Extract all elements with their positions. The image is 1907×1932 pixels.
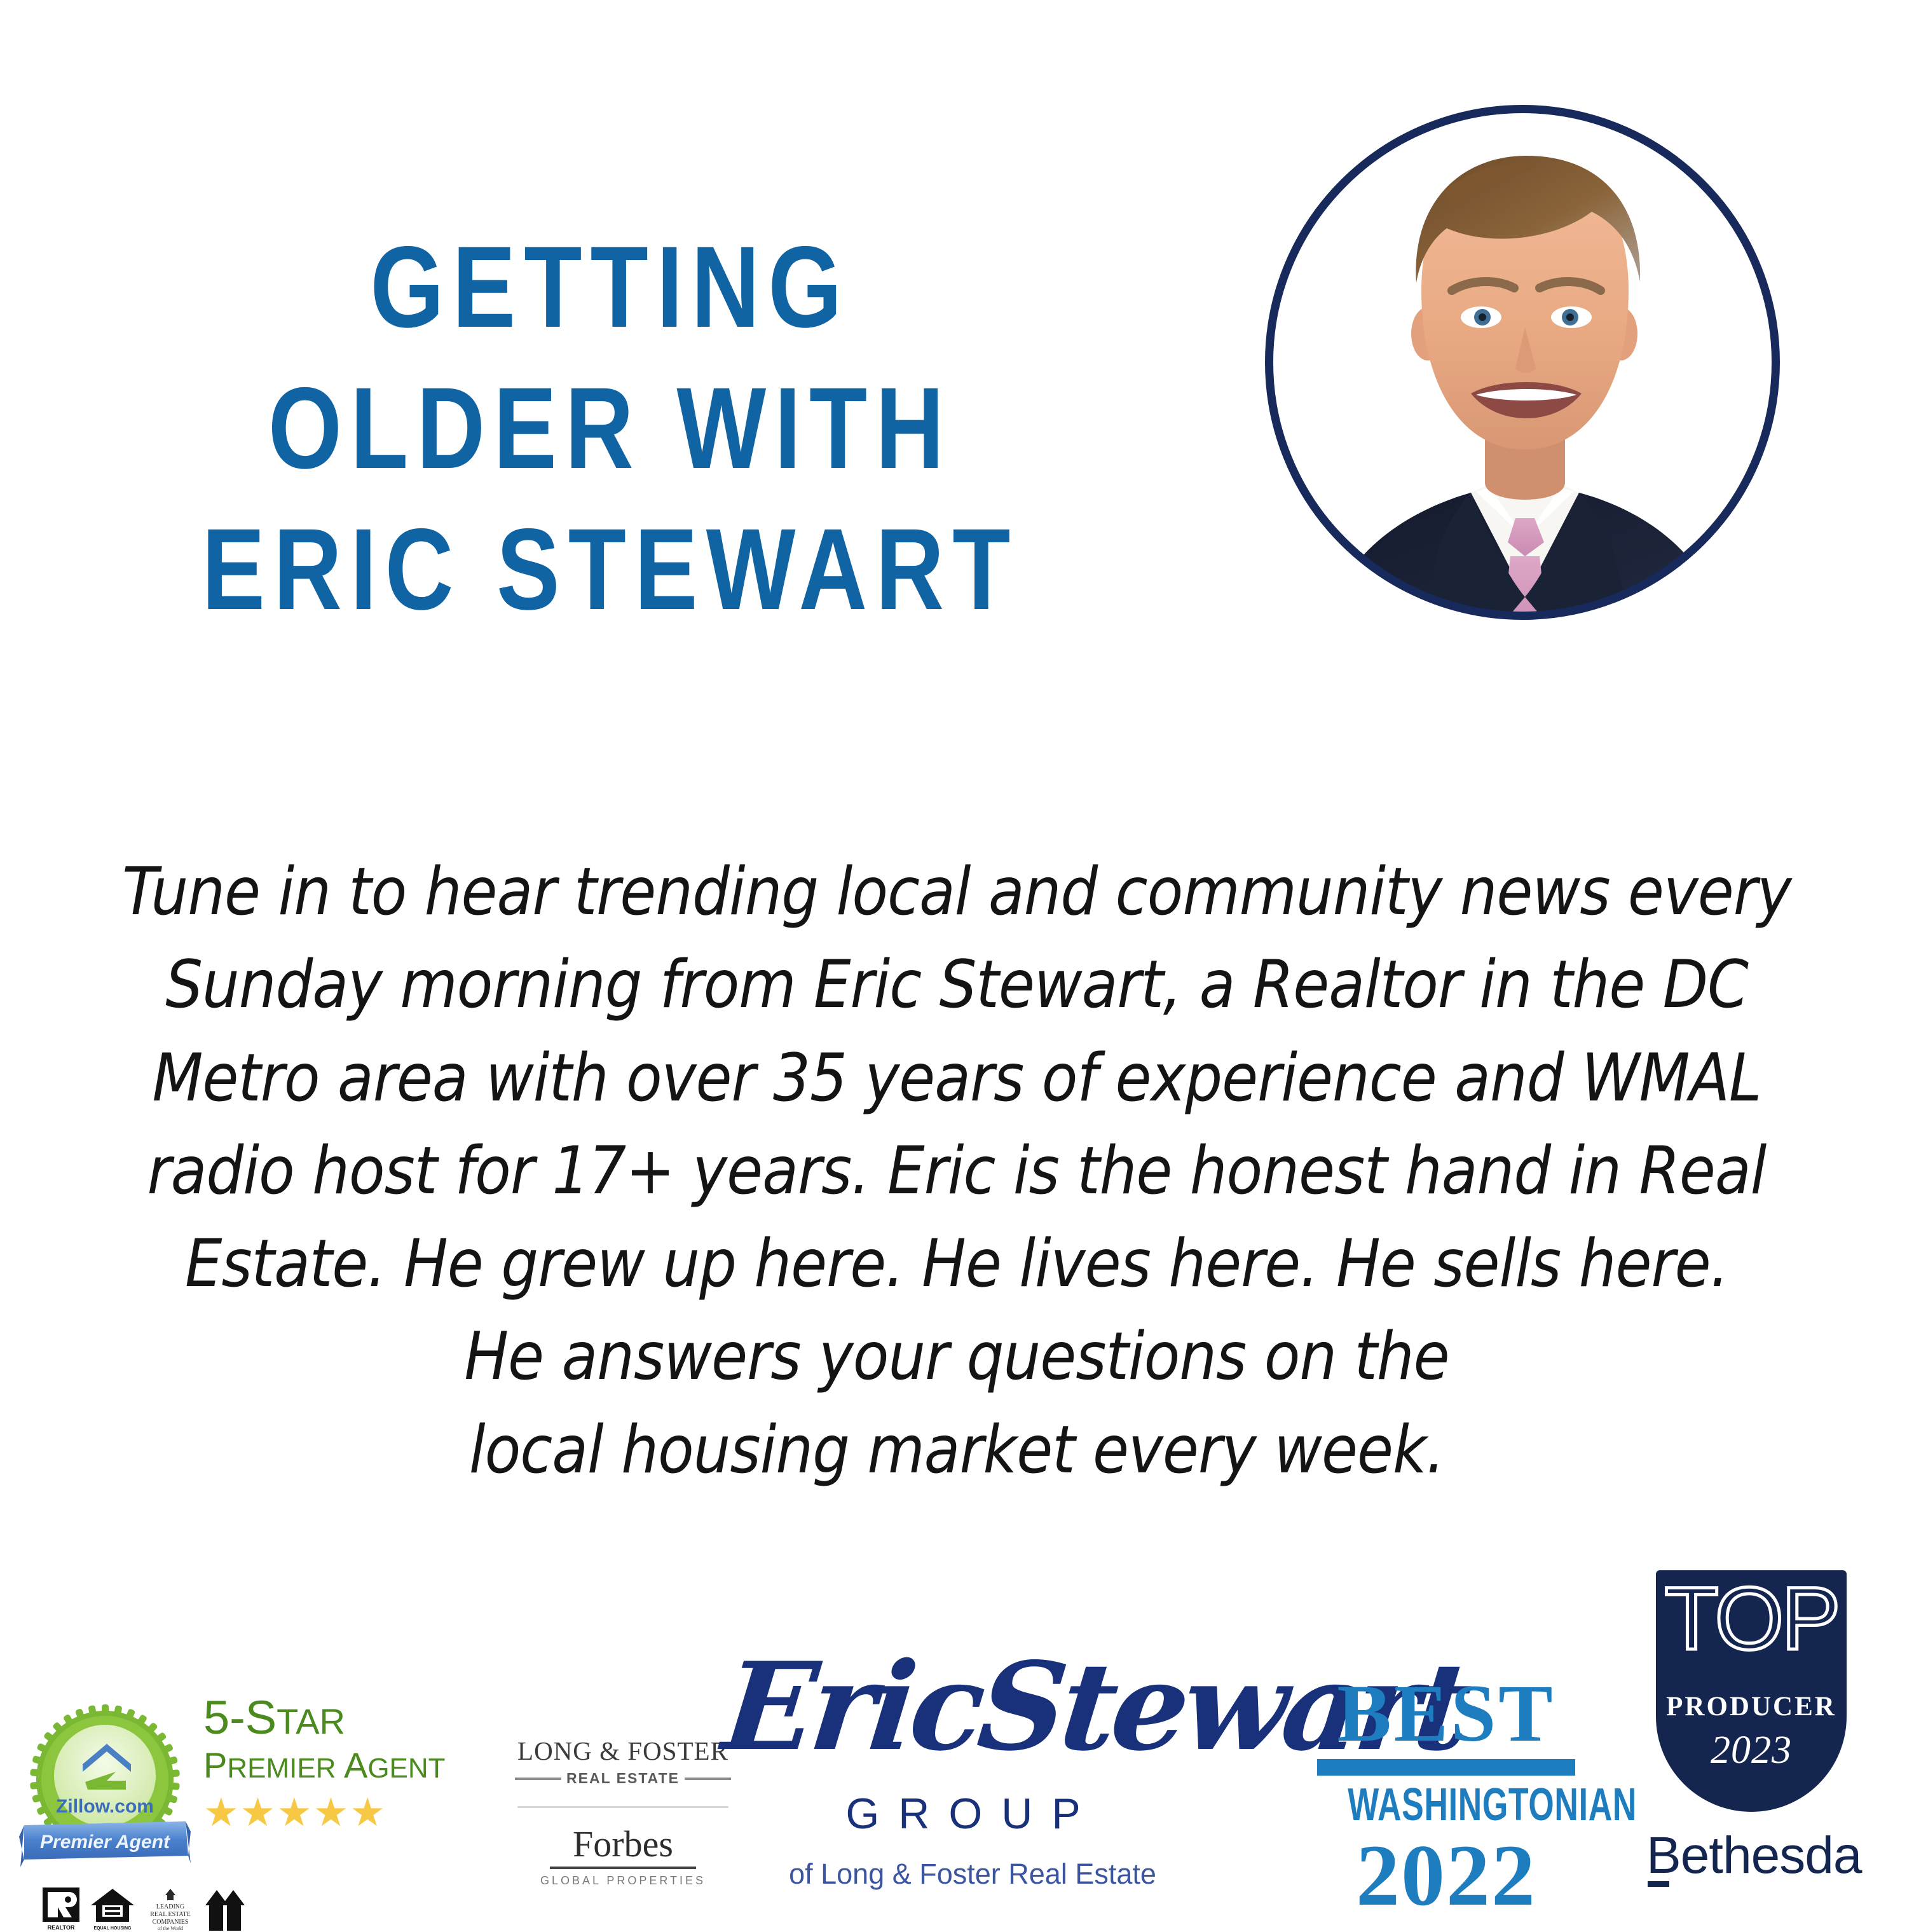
svg-text:COMPANIES: COMPANIES (153, 1919, 189, 1926)
rule-left (515, 1778, 561, 1780)
description-paragraph: Tune in to hear trending local and commu… (38, 846, 1875, 1497)
paragraph-line: Sunday morning from Eric Stewart, a Real… (38, 938, 1875, 1031)
title-line-2: OLDER WITH (141, 357, 1079, 498)
best-label: BEST (1309, 1675, 1583, 1753)
title-line-3: ERIC STEWART (141, 498, 1079, 640)
divider (517, 1806, 728, 1808)
forbes-wordmark: Forbes (515, 1826, 731, 1863)
paragraph-line: local housing market every week. (38, 1404, 1875, 1497)
forbes-sub-label: GLOBAL PROPERTIES (515, 1874, 731, 1887)
group-affiliation-label: of Long & Foster Real Estate (725, 1858, 1220, 1891)
page-title: GETTING OLDER WITH ERIC STEWART (38, 216, 1182, 640)
svg-text:REAL ESTATE: REAL ESTATE (150, 1911, 191, 1918)
equal-housing-icon: EQUAL HOUSING (90, 1886, 135, 1932)
eric-stewart-group-logo: EricStewart GROUP of Long & Foster Real … (725, 1647, 1220, 1891)
svg-text:EQUAL HOUSING: EQUAL HOUSING (94, 1926, 132, 1931)
affiliation-icons: REALTOR EQUAL HOUSING LEADING REAL ESTAT… (41, 1886, 245, 1932)
svg-text:of the World: of the World (158, 1926, 183, 1931)
best-divider-bar (1317, 1759, 1575, 1776)
long-foster-sub-label: REAL ESTATE (566, 1770, 680, 1787)
leading-real-estate-icon: LEADING REAL ESTATE COMPANIES of the Wor… (144, 1886, 196, 1932)
paragraph-line: Tune in to hear trending local and commu… (38, 846, 1875, 938)
washingtonian-label: WASHINGTONIAN (1348, 1782, 1545, 1828)
long-foster-logo: LONG & FOSTER REAL ESTATE Forbes GLOBAL … (515, 1736, 731, 1887)
premier-agent-label: PREMIER AGENT (203, 1741, 458, 1790)
zillow-ribbon-label: Premier Agent (40, 1832, 171, 1853)
bethesda-magazine-label: Bethesda (1646, 1826, 1862, 1886)
avatar (1265, 105, 1780, 620)
zillow-text-block: 5-STAR PREMIER AGENT ★★★★★ (203, 1694, 458, 1833)
group-label: GROUP (725, 1789, 1220, 1839)
paragraph-line: He answers your questions on the (38, 1310, 1875, 1403)
zillow-premier-agent-block: Zillow.com Premier Agent 5-STAR PREMIER … (19, 1688, 458, 1907)
title-line-1: GETTING (141, 216, 1079, 357)
zillow-badge-icon: Zillow.com Premier Agent (19, 1701, 191, 1872)
footer-logo-bar: Zillow.com Premier Agent 5-STAR PREMIER … (0, 1551, 1907, 1907)
paragraph-line: radio host for 17+ years. Eric is the ho… (38, 1125, 1875, 1217)
long-foster-subline: REAL ESTATE (515, 1770, 731, 1787)
paragraph-line: Metro area with over 35 years of experie… (38, 1032, 1875, 1125)
header-section: GETTING OLDER WITH ERIC STEWART (0, 0, 1907, 826)
svg-text:REALTOR: REALTOR (48, 1924, 75, 1931)
five-star-label: 5-STAR (203, 1694, 458, 1741)
top-producer-badge: TOP PRODUCER 2023 Bethesda (1646, 1570, 1856, 1886)
long-foster-arrows-icon (205, 1886, 245, 1932)
paragraph-line: Estate. He grew up here. He lives here. … (38, 1217, 1875, 1310)
producer-year-label: 2023 (1656, 1728, 1847, 1773)
social-graphic-card: GETTING OLDER WITH ERIC STEWART (0, 0, 1907, 1907)
shield-icon: TOP PRODUCER 2023 (1656, 1570, 1847, 1812)
forbes-rule (550, 1867, 696, 1869)
avatar-ring (1265, 105, 1780, 620)
best-year-label: 2022 (1309, 1832, 1583, 1919)
star-rating: ★★★★★ (203, 1793, 458, 1833)
top-label: TOP (1656, 1574, 1847, 1663)
realtor-r-icon: REALTOR (41, 1886, 81, 1932)
producer-label: PRODUCER (1656, 1691, 1847, 1722)
eric-stewart-script-wordmark: EricStewart (718, 1647, 1227, 1767)
zillow-brand-label: Zillow.com (56, 1796, 154, 1817)
best-washingtonian-badge: BEST WASHINGTONIAN 2022 (1309, 1675, 1583, 1919)
long-foster-name: LONG & FOSTER (515, 1736, 731, 1766)
